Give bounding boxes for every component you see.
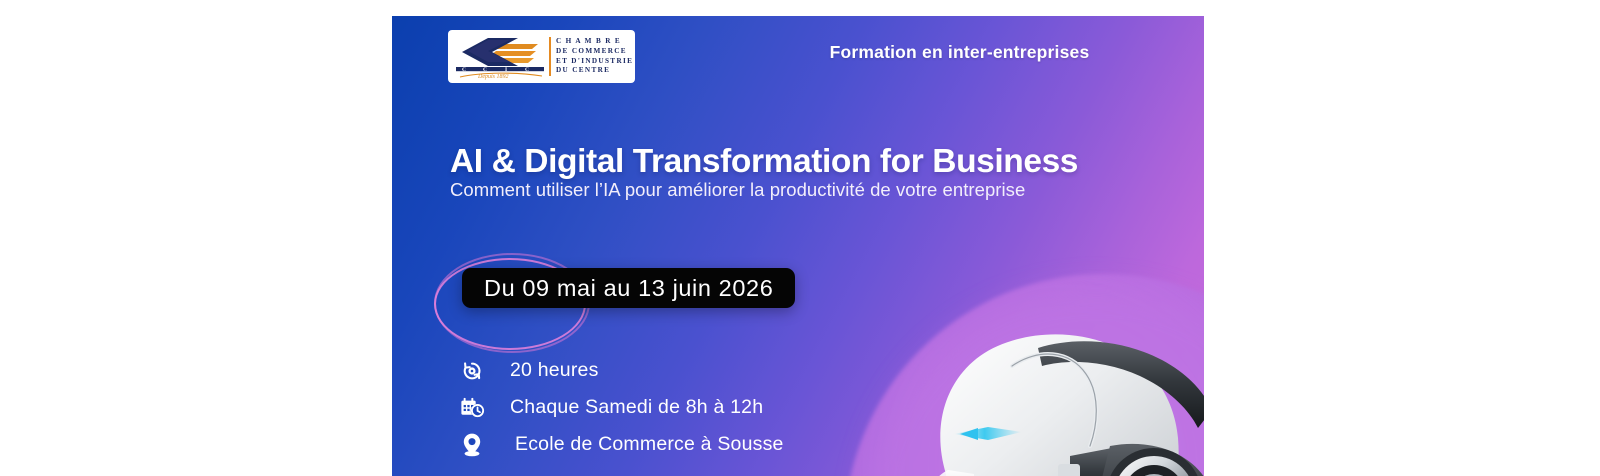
info-label-schedule: Chaque Samedi de 8h à 12h	[494, 396, 763, 419]
info-label-duration: 20 heures	[494, 359, 599, 382]
date-badge-label: Du 09 mai au 13 juin 2026	[484, 275, 773, 302]
info-label-location: Ecole de Commerce à Sousse	[494, 433, 784, 456]
clock-history-icon	[450, 358, 494, 384]
svg-text:I: I	[505, 67, 507, 73]
location-pin-icon	[450, 432, 494, 458]
poster-subtitle: Comment utiliser l’IA pour améliorer la …	[450, 177, 1190, 203]
robot-head-illustration	[862, 278, 1204, 476]
svg-text:C: C	[483, 67, 487, 73]
logo-line-4: DU CENTRE	[556, 66, 633, 76]
screenshot-canvas: C C I C Depuis 1892 C H A M B R E DE COM…	[0, 0, 1600, 476]
svg-text:C: C	[525, 67, 529, 73]
header-tagline: Formation en inter-entreprises	[830, 42, 1090, 63]
date-badge: Du 09 mai au 13 juin 2026	[462, 268, 795, 308]
training-poster: C C I C Depuis 1892 C H A M B R E DE COM…	[392, 16, 1204, 476]
calendar-clock-icon	[450, 395, 494, 421]
logo-tagline: Depuis 1892	[477, 74, 509, 80]
info-row-schedule: Chaque Samedi de 8h à 12h	[450, 393, 784, 422]
poster-title: AI & Digital Transformation for Business	[450, 142, 1190, 182]
info-row-location: Ecole de Commerce à Sousse	[450, 430, 784, 459]
header-tagline-wrap: Formation en inter-entreprises	[392, 42, 1204, 63]
info-row-duration: 20 heures	[450, 356, 784, 385]
poster-info-list: 20 heures	[450, 356, 784, 459]
svg-text:C: C	[462, 67, 466, 73]
